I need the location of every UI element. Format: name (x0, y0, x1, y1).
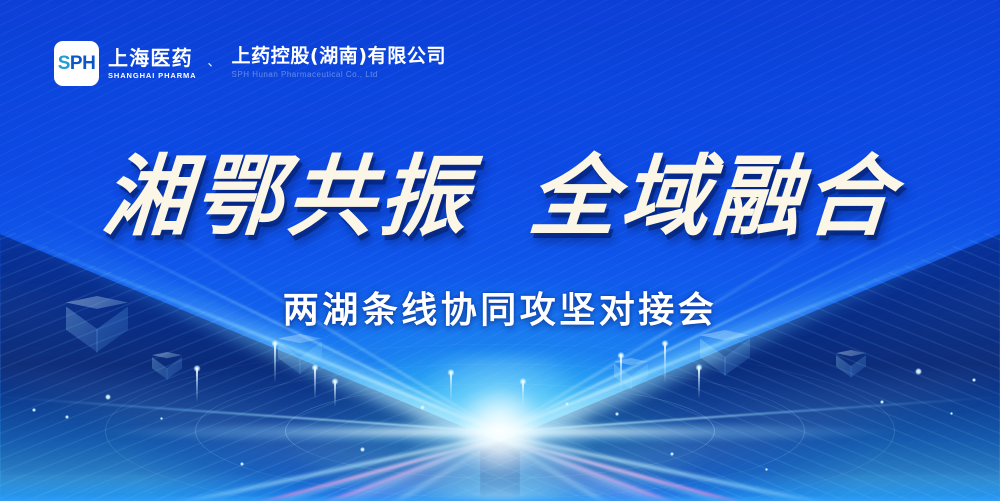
floating-cube (614, 358, 648, 396)
sph-logo-letter-s: S (58, 53, 70, 74)
brand-name-cn: 上海医药 (108, 48, 197, 69)
brand-name-block: 上海医药 SHANGHAI PHARMA (108, 48, 197, 80)
company-name-cn: 上药控股(湖南)有限公司 (232, 47, 447, 67)
sph-logo-letter-ph: PH (70, 53, 95, 74)
company-name-block: 上药控股(湖南)有限公司 SPH Hunan Pharmaceutical Co… (232, 47, 447, 80)
sph-logo-icon: SPH (54, 41, 99, 86)
main-title-left: 湘鄂共振 (100, 152, 474, 240)
floating-cube (700, 330, 750, 386)
floating-cube (836, 350, 866, 384)
floating-cube (278, 334, 322, 383)
brand-lockup: SPH 上海医药 SHANGHAI PHARMA 、 上药控股(湖南)有限公司 … (54, 41, 446, 86)
event-subtitle: 两湖条线协同攻坚对接会 (0, 291, 1000, 331)
event-banner: SPH 上海医药 SHANGHAI PHARMA 、 上药控股(湖南)有限公司 … (0, 0, 1000, 501)
floating-cube (152, 352, 182, 386)
main-title: 湘鄂共振 全域融合 (0, 152, 1000, 240)
brand-separator: 、 (206, 55, 223, 72)
company-name-en: SPH Hunan Pharmaceutical Co., Ltd (232, 70, 447, 80)
main-title-right: 全域融合 (526, 152, 900, 240)
brand-name-en: SHANGHAI PHARMA (108, 71, 197, 80)
bottom-edge-glow (0, 495, 1000, 501)
